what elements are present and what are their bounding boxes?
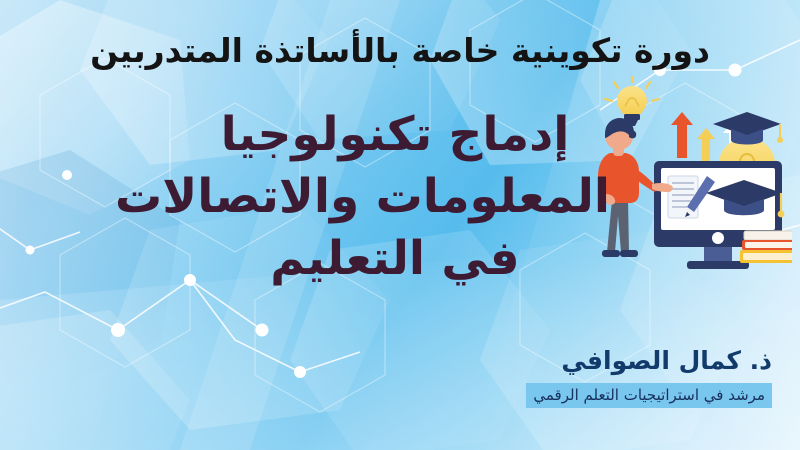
main-title-line-3: في التعليم [180,228,610,290]
small-lightbulb-icon [605,76,659,126]
poster-canvas: دورة تكوينية خاصة بالأساتذة المتدربين [0,0,800,450]
arrow-red [671,112,693,158]
main-title-line-2: المعلومات والاتصالات [180,166,610,228]
books-stack-icon [740,231,792,263]
course-header-title: دورة تكوينية خاصة بالأساتذة المتدربين [90,32,710,70]
education-illustration [584,76,792,272]
presenter-role-wrapper: مرشد في استراتيجيات التعلم الرقمي [0,383,772,409]
presenter-role-badge: مرشد في استراتيجيات التعلم الرقمي [526,383,772,409]
presenter-info: ذ. كمال الصوافي مرشد في استراتيجيات التع… [0,345,772,408]
main-title-line-1: إدماج تكنولوجيا [180,104,610,166]
education-illustration-svg [584,76,792,272]
arrow-yellow [697,128,715,162]
presenter-name: ذ. كمال الصوافي [0,345,772,378]
main-title: إدماج تكنولوجيا المعلومات والاتصالات في … [180,104,610,290]
